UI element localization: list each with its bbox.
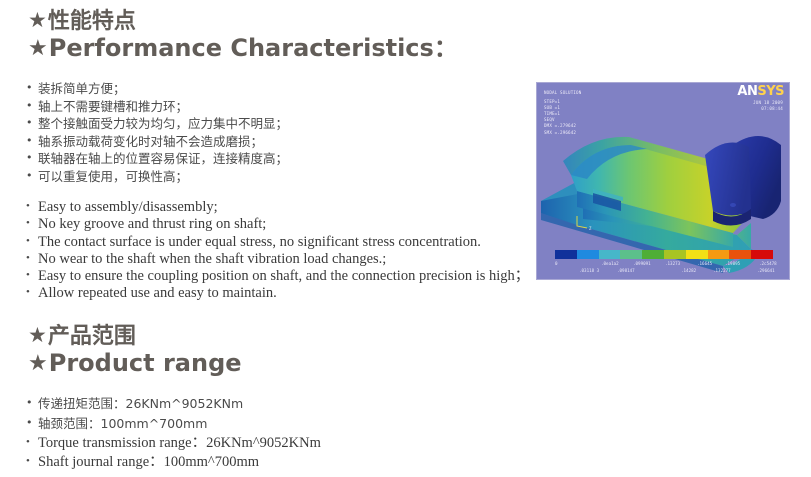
- product-range-bullets-cn: 传递扭矩范围：26KNm^9052KNm 轴颈范围：100mm^700mm: [26, 394, 243, 434]
- list-item: 传递扭矩范围：26KNm^9052KNm: [26, 394, 243, 414]
- legend-label: .2c5478: [759, 261, 777, 266]
- fea-header-text: NODAL SOLUTION STEP=1 SUB =1 TIME=1 SEQV…: [544, 90, 581, 136]
- legend-label: .19895: [725, 261, 740, 266]
- legend-swatch: [599, 250, 621, 259]
- ansys-logo-rest: SYS: [757, 84, 784, 99]
- legend-swatch: [664, 250, 686, 259]
- fea-date-line2: 07:08:44: [753, 106, 783, 112]
- list-item: Allow repeated use and easy to maintain.: [26, 285, 529, 302]
- legend-swatch: [686, 250, 708, 259]
- legend-label: 0: [555, 261, 558, 266]
- list-item: 可以重复使用，可换性高；: [26, 168, 288, 186]
- product-range-heading-cn-text: 产品范围: [48, 324, 136, 349]
- legend-swatch: [729, 250, 751, 259]
- ansys-logo-first: AN: [737, 84, 757, 99]
- fea-color-legend: [555, 250, 773, 259]
- list-item: No wear to the shaft when the shaft vibr…: [26, 251, 529, 268]
- star-icon: ★: [28, 36, 48, 61]
- product-range-bullets-en: Torque transmission range：26KNm^9052KNm …: [26, 434, 321, 471]
- fea-timestamp: JUN 18 2009 07:08:44: [753, 100, 783, 112]
- performance-bullets-cn: 装拆简单方便； 轴上不需要键槽和推力环； 整个接触面受力较为均匀，应力集中不明显…: [26, 80, 288, 186]
- list-item: 轴颈范围：100mm^700mm: [26, 414, 243, 434]
- fea-header-line: DMX =.279642: [544, 123, 581, 129]
- list-item: 轴上不需要键槽和推力环；: [26, 98, 288, 116]
- product-range-heading-cn: ★产品范围: [28, 325, 242, 348]
- performance-bullets-en: Easy to assembly/disassembly; No key gro…: [26, 199, 529, 303]
- legend-swatch: [577, 250, 599, 259]
- legend-label: .099091: [633, 261, 651, 266]
- list-item: 联轴器在轴上的位置容易保证，连接精度高；: [26, 150, 288, 168]
- star-icon: ★: [28, 351, 48, 376]
- legend-swatch: [555, 250, 577, 259]
- list-item: Easy to assembly/disassembly;: [26, 199, 529, 216]
- product-range-heading-en-text: Product range: [49, 349, 242, 377]
- legend-label: .296641: [757, 268, 775, 273]
- performance-heading-en: ★Performance Characteristics：: [28, 36, 458, 61]
- list-item: 轴系振动载荷变化时对轴不会造成磨损；: [26, 133, 288, 151]
- list-item: 装拆简单方便；: [26, 80, 288, 98]
- performance-heading-cn: ★性能特点: [28, 10, 458, 33]
- legend-label: .16645: [697, 261, 712, 266]
- product-range-heading-en: ★Product range: [28, 351, 242, 376]
- fea-legend-labels: 0 .0ea1a2 .099091 .13273 .16645 .19895 .…: [545, 261, 785, 277]
- list-item: No key groove and thrust ring on shaft;: [26, 216, 529, 233]
- list-item: 整个接触面受力较为均匀，应力集中不明显；: [26, 115, 288, 133]
- legend-swatch: [642, 250, 664, 259]
- legend-label: .03118 3: [579, 268, 599, 273]
- performance-heading-block: ★性能特点 ★Performance Characteristics：: [28, 10, 458, 61]
- legend-label: .13273: [665, 261, 680, 266]
- fea-header-title: NODAL SOLUTION: [544, 90, 581, 96]
- legend-swatch: [708, 250, 730, 259]
- star-icon: ★: [28, 323, 47, 347]
- fea-simulation-figure: Z ANSYS JUN 18 2009 07:08:44 NODAL SOLUT…: [536, 82, 790, 280]
- list-item: Torque transmission range：26KNm^9052KNm: [26, 434, 321, 453]
- legend-label: .132277: [713, 268, 731, 273]
- fea-header-line: SMX =.296642: [544, 130, 581, 136]
- list-item: The contact surface is under equal stres…: [26, 234, 529, 251]
- star-icon: ★: [28, 8, 47, 32]
- ansys-logo: ANSYS: [737, 85, 784, 98]
- fea-part-endcap-hole: [730, 203, 736, 207]
- legend-label: .14282: [681, 268, 696, 273]
- legend-label: .0ea1a2: [601, 261, 619, 266]
- performance-heading-en-text: Performance Characteristics：: [49, 34, 458, 62]
- legend-swatch: [751, 250, 773, 259]
- list-item: Easy to ensure the coupling position on …: [26, 268, 529, 285]
- performance-heading-cn-text: 性能特点: [48, 9, 136, 34]
- product-range-heading-block: ★产品范围 ★Product range: [28, 325, 242, 376]
- list-item: Shaft journal range：100mm^700mm: [26, 453, 321, 472]
- legend-label: .098147: [617, 268, 635, 273]
- legend-swatch: [620, 250, 642, 259]
